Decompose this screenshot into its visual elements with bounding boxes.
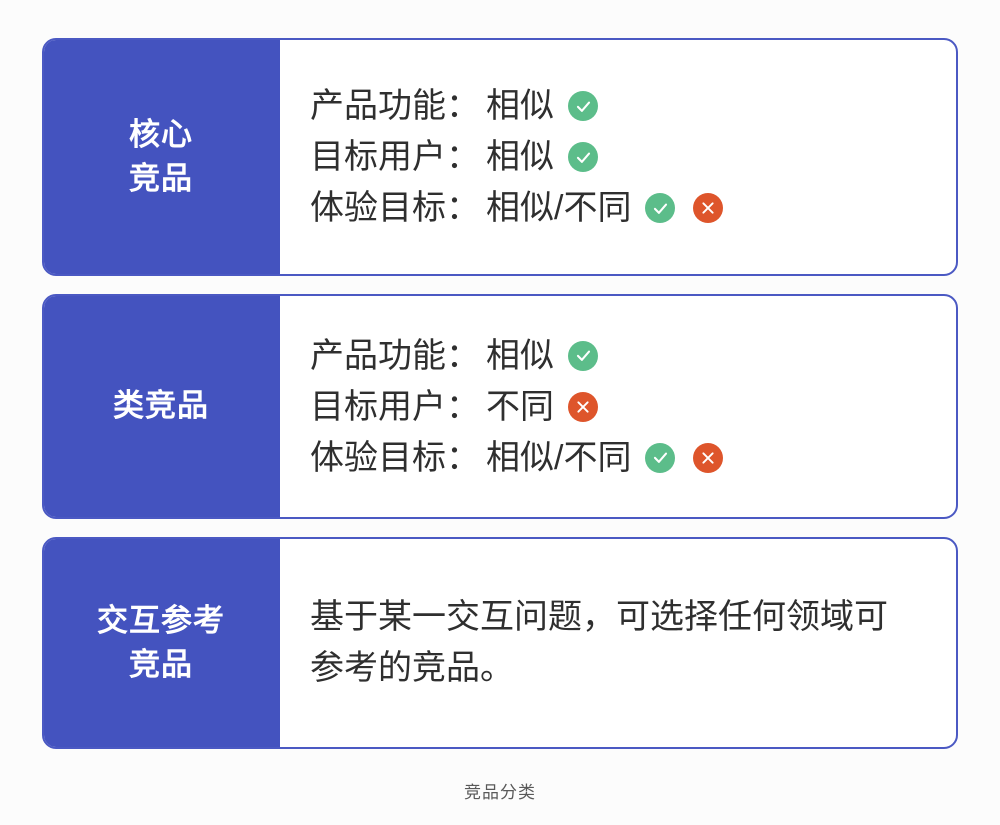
- check-circle-icon: [568, 91, 598, 121]
- check-circle-icon: [645, 443, 675, 473]
- card-core-competitor: 核心 竞品 产品功能： 相似 目标用户： 相似: [42, 38, 958, 276]
- card-label-core-competitor: 核心 竞品: [42, 38, 280, 276]
- check-circle-icon: [645, 193, 675, 223]
- attribute-marks: [645, 443, 723, 473]
- attribute-marks: [568, 392, 598, 422]
- attribute-value: 相似/不同: [486, 191, 631, 225]
- figure-caption: 竞品分类: [0, 778, 1000, 803]
- attribute-key: 产品功能：: [310, 339, 480, 373]
- attribute-value: 相似: [486, 89, 554, 123]
- attribute-marks: [645, 193, 723, 223]
- check-circle-icon: [568, 142, 598, 172]
- attribute-key: 目标用户：: [310, 140, 480, 174]
- card-body-similar-competitor: 产品功能： 相似 目标用户： 不同: [280, 296, 956, 517]
- attribute-row: 体验目标： 相似/不同: [310, 183, 956, 234]
- card-similar-competitor: 类竞品 产品功能： 相似 目标用户： 不同: [42, 294, 958, 519]
- cross-circle-icon: [693, 193, 723, 223]
- competitor-classification-figure: 核心 竞品 产品功能： 相似 目标用户： 相似: [0, 0, 1000, 825]
- card-body-interaction-reference-competitor: 基于某一交互问题，可选择任何领域可参考的竞品。: [280, 539, 956, 747]
- attribute-key: 体验目标：: [310, 191, 480, 225]
- card-description-text: 基于某一交互问题，可选择任何领域可参考的竞品。: [310, 592, 930, 694]
- card-body-core-competitor: 产品功能： 相似 目标用户： 相似: [280, 40, 956, 274]
- card-label-interaction-reference-competitor: 交互参考 竞品: [42, 537, 280, 749]
- attribute-marks: [568, 142, 598, 172]
- attribute-row: 产品功能： 相似: [310, 81, 956, 132]
- card-label-similar-competitor: 类竞品: [42, 294, 280, 519]
- cross-circle-icon: [568, 392, 598, 422]
- attribute-key: 体验目标：: [310, 441, 480, 475]
- attribute-marks: [568, 91, 598, 121]
- attribute-key: 目标用户：: [310, 390, 480, 424]
- card-interaction-reference-competitor: 交互参考 竞品 基于某一交互问题，可选择任何领域可参考的竞品。: [42, 537, 958, 749]
- cross-circle-icon: [693, 443, 723, 473]
- attribute-key: 产品功能：: [310, 89, 480, 123]
- attribute-row: 体验目标： 相似/不同: [310, 432, 956, 483]
- check-circle-icon: [568, 341, 598, 371]
- attribute-row: 目标用户： 不同: [310, 381, 956, 432]
- attribute-marks: [568, 341, 598, 371]
- attribute-value: 不同: [486, 390, 554, 424]
- attribute-value: 相似: [486, 339, 554, 373]
- attribute-value: 相似/不同: [486, 441, 631, 475]
- attribute-value: 相似: [486, 140, 554, 174]
- attribute-row: 产品功能： 相似: [310, 330, 956, 381]
- attribute-row: 目标用户： 相似: [310, 132, 956, 183]
- card-list: 核心 竞品 产品功能： 相似 目标用户： 相似: [42, 38, 958, 749]
